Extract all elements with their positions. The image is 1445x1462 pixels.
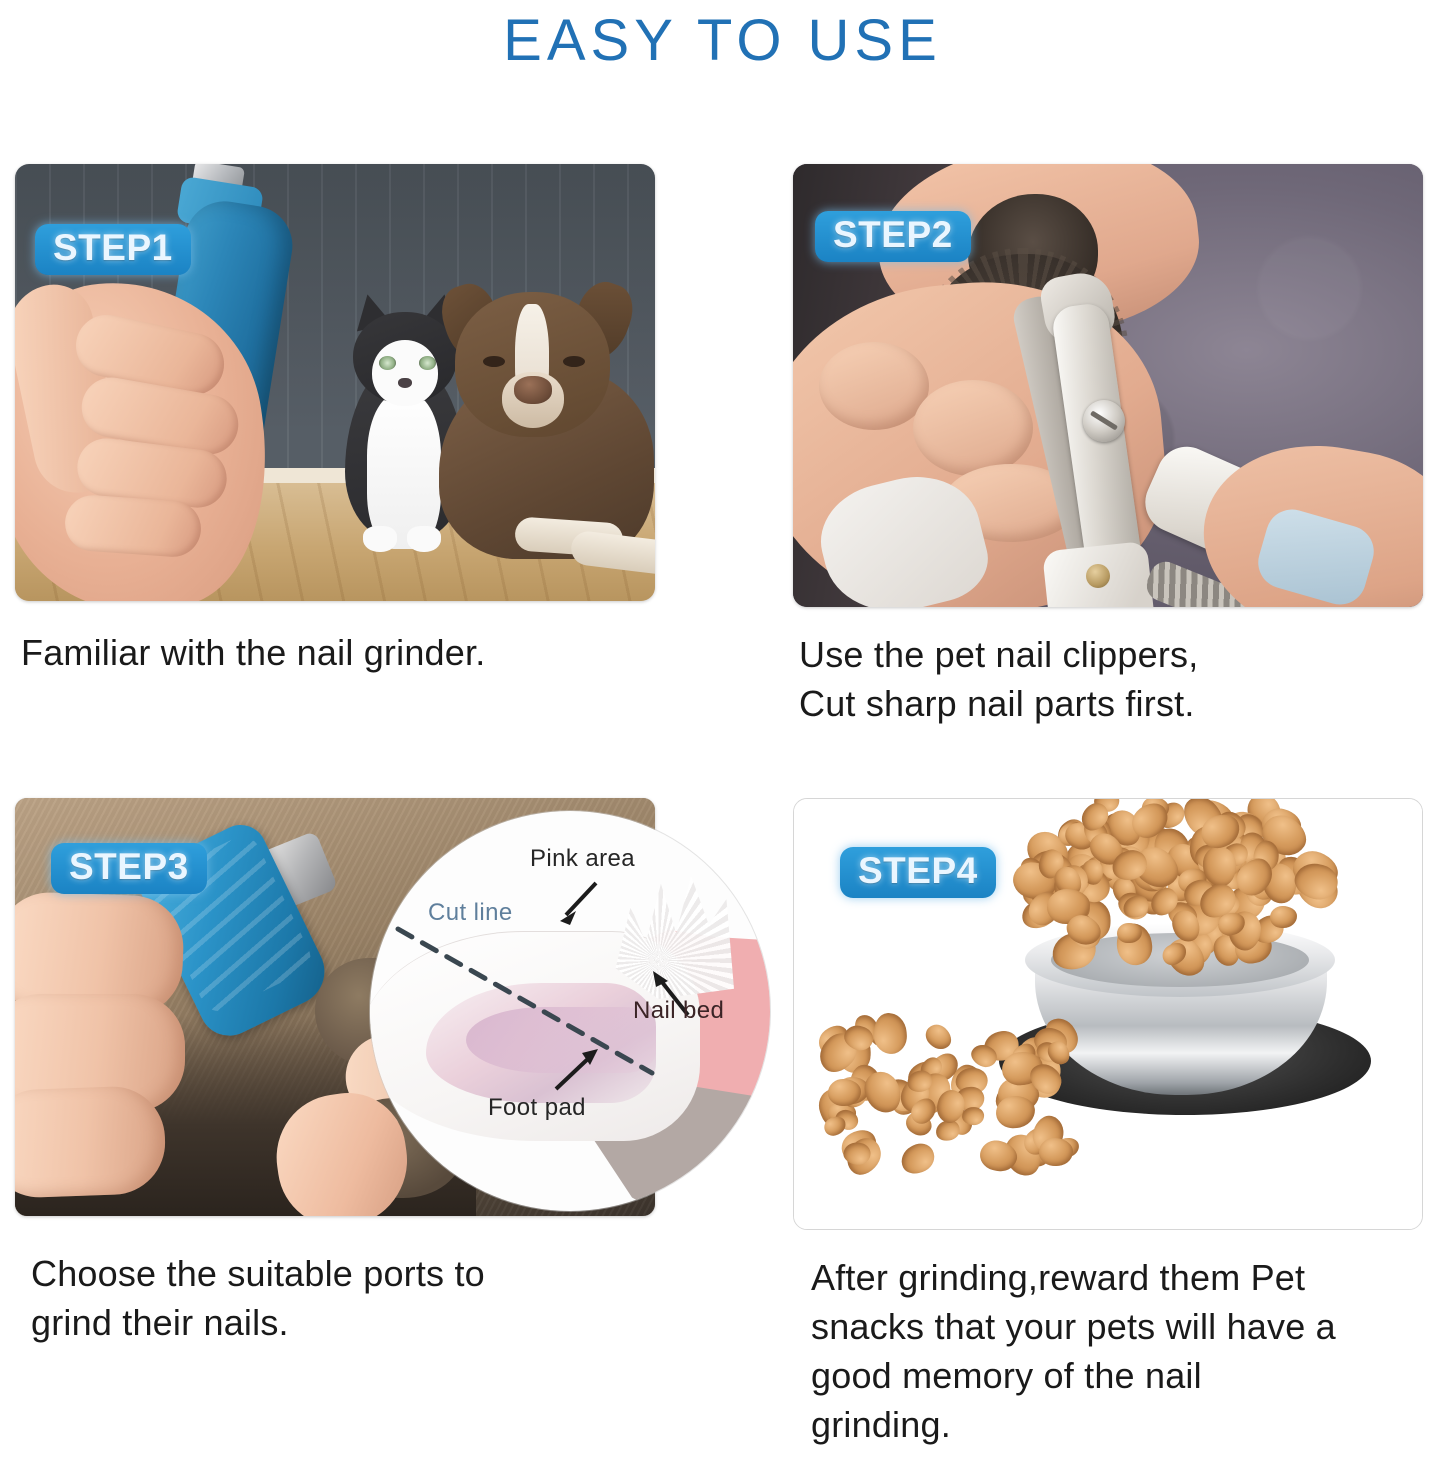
step-4-badge: STEP4 (840, 847, 996, 898)
step-card-1: STEP1 Familiar with the nail grinder. (15, 164, 660, 678)
cat-eye-right (419, 356, 436, 370)
kibble-piece (962, 1107, 984, 1125)
kibble-scattered (814, 1017, 1084, 1177)
knuckle-2 (913, 380, 1033, 476)
label-nail-bed: Nail bed (633, 997, 724, 1025)
pink-area-arrow (560, 883, 596, 925)
step-4-frame: STEP4 (793, 798, 1423, 1230)
kibble-piece (1270, 905, 1298, 928)
label-foot-pad: Foot pad (488, 1094, 586, 1122)
cut-line-dashes (398, 929, 652, 1073)
step-1-badge: STEP1 (35, 224, 191, 275)
step-3-badge: STEP3 (51, 843, 207, 894)
step-3-caption: Choose the suitable ports to grind their… (31, 1250, 660, 1348)
step-1-caption: Familiar with the nail grinder. (21, 629, 660, 678)
label-pink-area: Pink area (530, 845, 635, 873)
step-4-caption: After grinding,reward them Pet snacks th… (811, 1254, 1423, 1450)
step-card-2: STEP2 Use the pet nail clippers, Cut sha… (793, 164, 1423, 729)
dog-nose (514, 376, 552, 404)
cat-eye-left (379, 356, 396, 370)
cat-paw-right (407, 526, 441, 552)
steps-grid: STEP1 Familiar with the nail grinder. (0, 158, 1445, 1458)
step-2-caption: Use the pet nail clippers, Cut sharp nai… (799, 631, 1423, 729)
step-card-3: STEP3 (15, 798, 660, 1348)
step-2-photo: STEP2 (793, 164, 1423, 607)
knuckle-1 (819, 342, 929, 430)
cat-face (372, 340, 438, 406)
cat-paw-left (363, 526, 397, 552)
dog-eye-left (483, 356, 505, 367)
page-title: EASY TO USE (0, 0, 1445, 75)
finger-3 (15, 1085, 167, 1199)
dog-eye-right (563, 356, 585, 367)
hand-finger-4 (63, 493, 203, 558)
clipper-lower-screw (1086, 564, 1110, 588)
cat-nose (398, 378, 412, 388)
step-2-badge: STEP2 (815, 211, 971, 262)
foot-pad-arrow (556, 1049, 598, 1089)
kibble-piece (897, 1139, 940, 1179)
nail-anatomy-diagram: Pink area Cut line Nail bed Foot pad (370, 811, 770, 1211)
label-cut-line: Cut line (428, 899, 513, 927)
clipper-pivot-screw (1083, 400, 1125, 442)
kibble-piece (921, 1019, 956, 1054)
kibble-piece (828, 1079, 861, 1106)
kibble-piece (872, 1012, 908, 1055)
step-1-photo: STEP1 (15, 164, 655, 601)
kibble-in-bowl (1008, 827, 1348, 967)
step-card-4: STEP4 After grinding,reward them Pet sna… (793, 798, 1423, 1450)
